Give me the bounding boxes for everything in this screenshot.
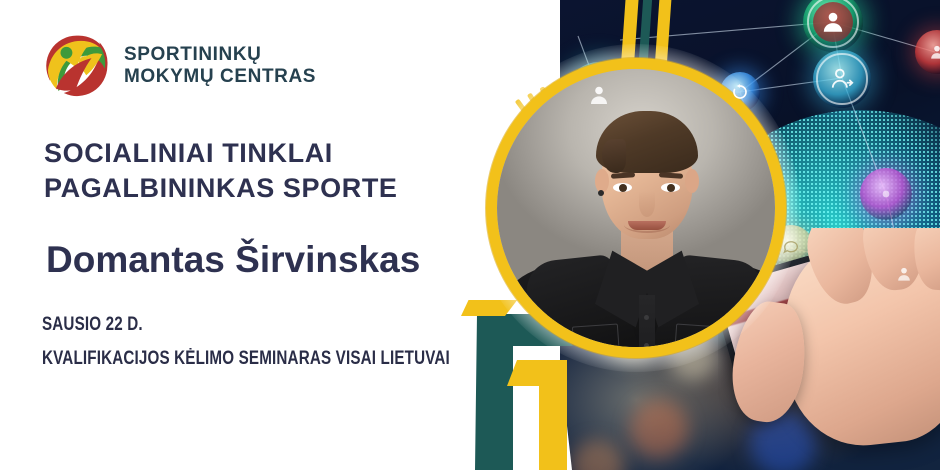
person-icon [894,264,914,284]
portrait-photo [497,69,775,347]
add-person-icon [829,66,855,92]
shirt-pocket-right [674,323,722,347]
ear-right [685,169,699,193]
dot-icon [878,186,894,202]
eye-left [613,183,632,192]
person-icon [927,42,940,62]
shirt-placket [639,295,655,347]
speaker-portrait [486,58,786,358]
organization-name: SPORTININKŲ MOKYMŲ CENTRAS [124,44,316,89]
sportininku-mokymu-centras-logo-icon [44,33,110,99]
shirt-button [644,315,649,320]
organization-logo: SPORTININKŲ MOKYMŲ CENTRAS [44,33,316,99]
node-purple [860,168,912,220]
eye-right [661,183,680,192]
page-title: SOCIALINIAI TINKLAI PAGALBININKAS SPORTE [44,136,398,206]
shirt-pocket-left [572,323,620,347]
speaker-name: Domantas Širvinskas [46,240,420,281]
earring [598,190,604,196]
person-icon [587,83,611,107]
mouth [628,221,666,230]
chat-icon [781,238,801,258]
hair [596,111,698,173]
shirt-button [644,343,649,347]
refresh-icon [731,83,749,101]
node-cyan-add-person [813,50,871,108]
event-subtitle: KVALIFIKACIJOS KĖLIMO SEMINARAS VISAI LI… [42,348,450,370]
event-date: SAUSIO 22 D. [42,314,143,336]
person-icon [820,9,846,35]
seminar-poster: SPORTININKŲ MOKYMŲ CENTRAS SOCIALINIAI T… [0,0,940,470]
nose [639,191,655,217]
portrait-ring [486,58,786,358]
